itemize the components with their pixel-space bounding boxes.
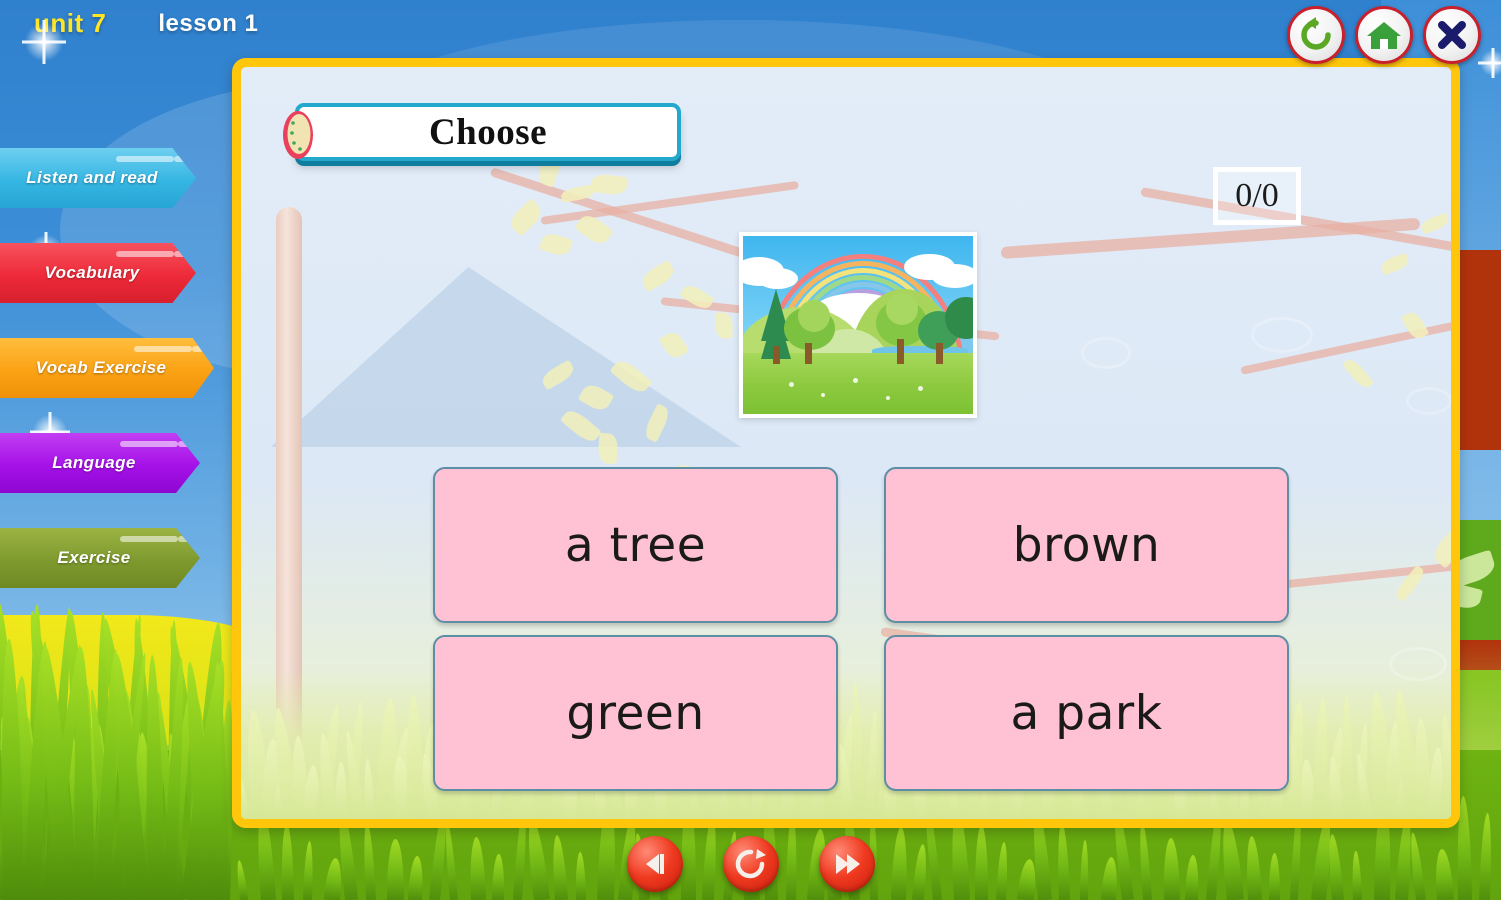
exercise-title-bar: Choose	[281, 103, 681, 161]
gloss-highlight	[174, 251, 186, 257]
sidebar-item-label: Language	[52, 453, 148, 473]
leaf-decoration	[597, 433, 618, 464]
header: unit 7 lesson 1	[34, 8, 258, 39]
answer-label: green	[566, 686, 704, 741]
answer-option-brown[interactable]: brown	[884, 467, 1289, 623]
sidebar-item-vocab-exercise[interactable]: Vocab Exercise	[0, 338, 214, 398]
leaf-decoration	[1379, 253, 1410, 276]
image-cloud	[932, 264, 977, 287]
shell-badge-icon	[281, 109, 315, 161]
prompt-image	[739, 232, 977, 418]
leaf-decoration	[539, 231, 573, 258]
restart-button[interactable]	[723, 836, 779, 892]
image-sparkle-dot	[918, 386, 923, 391]
score-value: 0/0	[1235, 177, 1278, 215]
image-sparkle-dot	[886, 396, 890, 400]
swirl-decoration	[1406, 387, 1452, 415]
answer-option-a-park[interactable]: a park	[884, 635, 1289, 791]
title-plate: Choose	[295, 103, 681, 161]
sidebar-item-listen-and-read[interactable]: Listen and read	[0, 148, 196, 208]
sidebar-item-label: Listen and read	[26, 168, 170, 188]
answer-label: brown	[1013, 518, 1161, 573]
leaf-decoration	[1342, 356, 1374, 390]
leaf-decoration	[1420, 213, 1451, 235]
sidebar-item-language[interactable]: Language	[0, 433, 200, 493]
home-button[interactable]	[1355, 6, 1413, 64]
answer-options: a tree brown green a park	[433, 467, 1289, 791]
leaf-decoration	[1454, 275, 1460, 305]
gloss-highlight	[178, 536, 190, 542]
previous-icon	[639, 848, 671, 880]
leaf-decoration	[506, 198, 545, 236]
gloss-highlight	[116, 156, 174, 162]
leaf-decoration	[590, 173, 628, 197]
answer-label: a park	[1011, 686, 1163, 741]
panel-mountain-decoration	[271, 267, 741, 447]
next-icon	[831, 848, 863, 880]
leaf-decoration	[1430, 526, 1460, 569]
previous-button[interactable]	[627, 836, 683, 892]
branch-decoration	[1001, 218, 1421, 259]
score-badge: 0/0	[1213, 167, 1301, 225]
playback-controls	[0, 836, 1501, 892]
image-sparkle-dot	[821, 393, 825, 397]
gloss-highlight	[134, 346, 192, 352]
gloss-highlight	[116, 251, 174, 257]
restart-icon	[735, 848, 767, 880]
swirl-decoration	[1081, 337, 1131, 369]
panel-grass-blade	[1458, 744, 1460, 819]
home-icon	[1365, 16, 1403, 54]
sidebar-item-vocabulary[interactable]: Vocabulary	[0, 243, 196, 303]
window-controls	[1287, 6, 1481, 64]
answer-option-green[interactable]: green	[433, 635, 838, 791]
answer-option-a-tree[interactable]: a tree	[433, 467, 838, 623]
exercise-panel: Choose 0/0	[232, 58, 1460, 828]
replay-icon	[1297, 16, 1335, 54]
app-screen: unit 7 lesson 1	[0, 0, 1501, 900]
image-tree-crown	[945, 297, 977, 340]
image-tree-crown	[886, 293, 918, 325]
leaf-decoration	[659, 329, 690, 362]
sidebar-item-exercise[interactable]: Exercise	[0, 528, 200, 588]
sidebar-item-label: Exercise	[57, 548, 142, 568]
leaf-decoration	[716, 313, 733, 339]
image-sparkle-dot	[789, 382, 794, 387]
lesson-label: lesson 1	[158, 10, 258, 38]
gloss-highlight	[178, 441, 190, 447]
swirl-decoration	[1251, 317, 1313, 353]
replay-button[interactable]	[1287, 6, 1345, 64]
sidebar-item-label: Vocabulary	[44, 263, 151, 283]
image-tree-trunk	[936, 343, 943, 364]
image-tree-trunk	[805, 343, 812, 364]
answer-label: a tree	[565, 518, 706, 573]
gloss-highlight	[120, 441, 178, 447]
image-tree-trunk	[773, 346, 780, 364]
gloss-highlight	[192, 346, 204, 352]
leaf-decoration	[1457, 596, 1460, 631]
next-button[interactable]	[819, 836, 875, 892]
leaf-decoration	[639, 260, 677, 293]
swirl-decoration	[1389, 647, 1447, 681]
sidebar-item-label: Vocab Exercise	[36, 358, 179, 378]
close-icon	[1434, 17, 1470, 53]
image-tree-trunk	[897, 339, 904, 364]
gloss-highlight	[174, 156, 186, 162]
gloss-highlight	[120, 536, 178, 542]
exercise-title: Choose	[429, 111, 547, 154]
close-button[interactable]	[1423, 6, 1481, 64]
sidebar-menu: Listen and read Vocabulary Vocab Exercis…	[0, 148, 220, 623]
unit-label: unit 7	[34, 8, 106, 39]
